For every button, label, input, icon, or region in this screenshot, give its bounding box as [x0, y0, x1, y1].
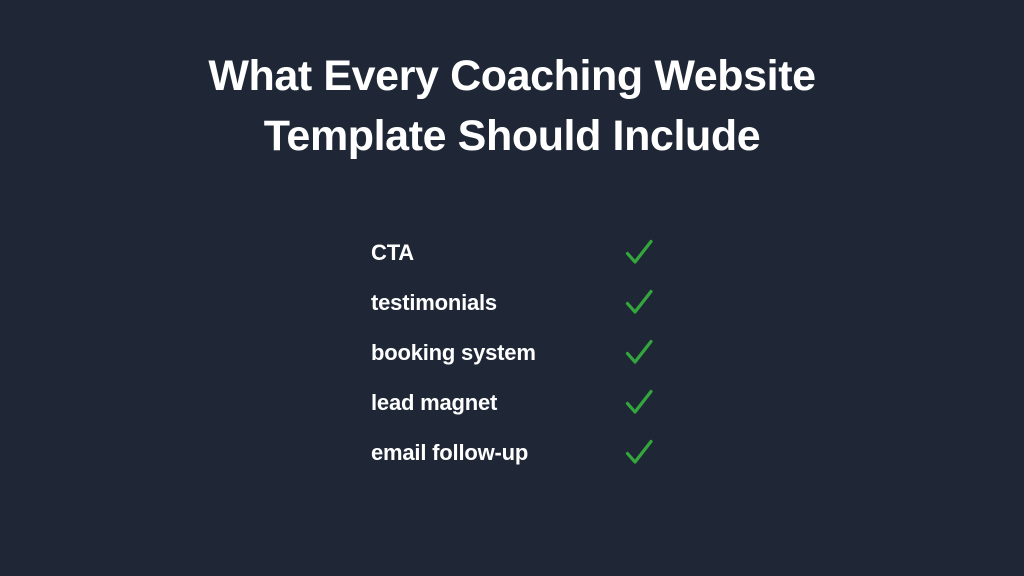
- list-item: booking system: [371, 328, 671, 378]
- checklist-item-label: lead magnet: [371, 392, 497, 414]
- checklist: CTA testimonials booking system: [371, 228, 671, 478]
- check-icon: [624, 288, 654, 318]
- list-item: CTA: [371, 228, 671, 278]
- list-item: testimonials: [371, 278, 671, 328]
- slide-canvas: What Every Coaching Website Template Sho…: [0, 0, 1024, 576]
- page-title: What Every Coaching Website Template Sho…: [0, 46, 1024, 166]
- check-icon: [624, 438, 654, 468]
- checklist-item-label: CTA: [371, 242, 414, 264]
- check-icon: [624, 238, 654, 268]
- check-icon: [624, 388, 654, 418]
- checklist-item-label: booking system: [371, 342, 536, 364]
- list-item: email follow-up: [371, 428, 671, 478]
- page-title-line-1: What Every Coaching Website: [0, 46, 1024, 106]
- list-item: lead magnet: [371, 378, 671, 428]
- page-title-line-2: Template Should Include: [0, 106, 1024, 166]
- checklist-item-label: testimonials: [371, 292, 497, 314]
- checklist-item-label: email follow-up: [371, 442, 528, 464]
- check-icon: [624, 338, 654, 368]
